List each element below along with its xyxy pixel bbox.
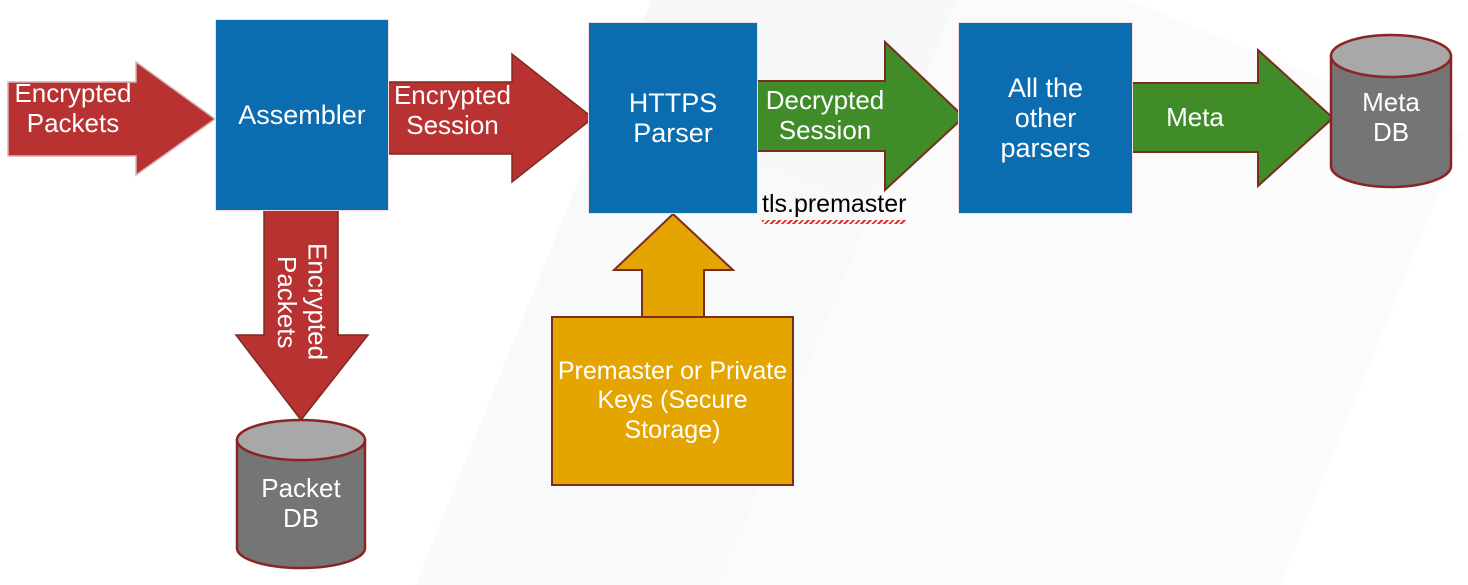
node-label-https-parser-line1: HTTPS	[629, 88, 718, 118]
node-label-key-store-line3: (Secure	[660, 386, 748, 414]
node-label-other-parsers-line1: All the	[1000, 73, 1090, 103]
spellcheck-underline-icon	[762, 220, 906, 224]
annotation-tls-premaster-text: tls.premaster	[762, 190, 906, 218]
node-label-https-parser-line2: Parser	[629, 118, 718, 148]
arrow-keys-to-https-parser	[612, 212, 736, 328]
node-packet-db[interactable]: Packet DB	[234, 418, 368, 570]
arrow-meta	[1128, 48, 1336, 188]
arrow-encrypted-session	[382, 52, 597, 184]
arrow-encrypted-packets-in	[8, 62, 220, 177]
annotation-tls-premaster: tls.premaster	[762, 190, 906, 227]
diagram-canvas: Encrypted Packets Encrypted Session Encr…	[0, 0, 1468, 585]
arrow-decrypted-session	[752, 40, 968, 192]
node-label-key-store-line1: Premaster or	[558, 357, 702, 385]
node-label-key-store-line4: Storage)	[625, 416, 721, 444]
node-meta-db[interactable]: Meta DB	[1328, 32, 1454, 190]
node-https-parser[interactable]: HTTPS Parser	[588, 22, 758, 214]
node-label-other-parsers-line3: parsers	[1000, 133, 1090, 163]
node-label-assembler: Assembler	[238, 100, 366, 130]
node-assembler[interactable]: Assembler	[215, 19, 389, 211]
node-label-other-parsers-line2: other	[1000, 103, 1090, 133]
node-key-store[interactable]: Premaster or Private Keys (Secure Storag…	[551, 316, 794, 486]
node-other-parsers[interactable]: All the other parsers	[958, 22, 1133, 214]
arrow-encrypted-packets-to-db	[234, 208, 370, 423]
